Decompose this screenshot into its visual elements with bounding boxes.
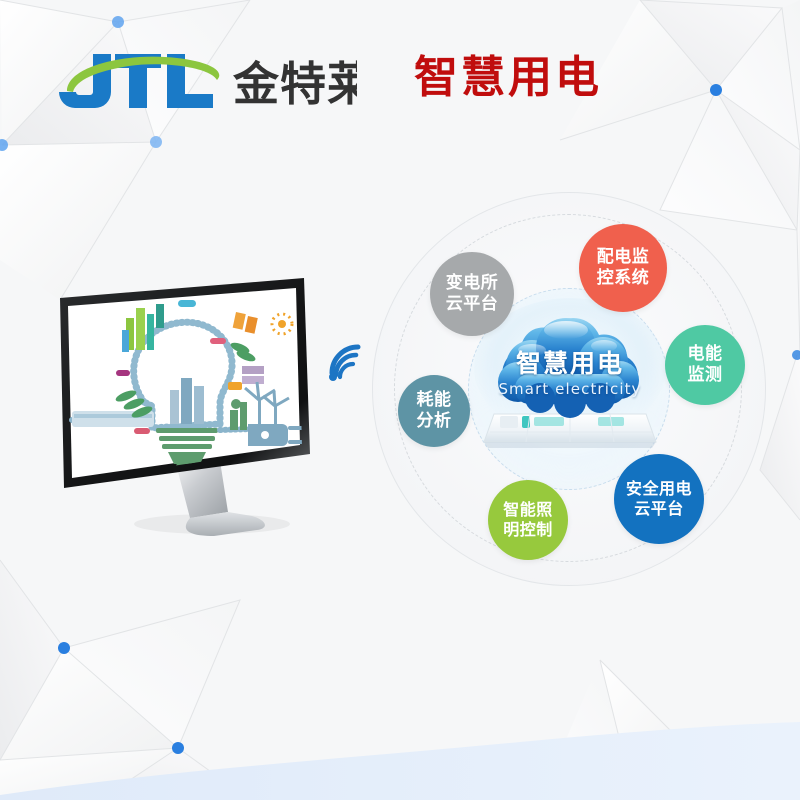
bubble-label-line2: 监测 [688, 365, 723, 386]
bubble-label: 耗能分析 [413, 390, 456, 431]
bubble-label-line1: 智能照 [503, 500, 553, 520]
bubble-energy-consumption-analysis[interactable]: 耗能分析 [398, 375, 470, 447]
bubble-label-line1: 耗能 [417, 390, 452, 411]
bubble-intelligent-lighting-control[interactable]: 智能照明控制 [488, 480, 568, 560]
bubble-label-line2: 控系统 [597, 268, 650, 289]
bubble-label-line1: 电能 [688, 344, 723, 365]
bubble-label: 安全用电云平台 [622, 479, 696, 518]
bubble-label-line1: 安全用电 [626, 479, 692, 499]
brand-company-name: 金特莱 [232, 57, 357, 111]
tablet-device [484, 414, 656, 448]
bubble-label: 配电监控系统 [593, 247, 654, 288]
bubble-power-consumption-monitoring[interactable]: 电能监测 [665, 325, 745, 405]
bubble-label-line2: 明控制 [503, 520, 553, 540]
bubble-power-distribution-monitoring[interactable]: 配电监控系统 [579, 224, 667, 312]
bubble-label: 智能照明控制 [499, 500, 557, 539]
brand-logo[interactable]: 金特莱 [57, 44, 357, 116]
bubble-label-line2: 云平台 [626, 499, 692, 519]
wifi-signal-icon [318, 333, 370, 385]
header: 金特莱 智慧用电 [0, 0, 800, 150]
smart-electricity-ecosystem: 智慧用电 Smart electricity 变电所云平台配电监控系统电能监测耗… [372, 192, 768, 588]
bubble-label-line1: 变电所 [446, 273, 499, 294]
poster-canvas: 金特莱 智慧用电 [0, 0, 800, 800]
bubble-label: 变电所云平台 [442, 273, 503, 314]
bubble-label-line1: 配电监 [597, 247, 650, 268]
desktop-monitor [52, 278, 352, 568]
bubble-substation-cloud-platform[interactable]: 变电所云平台 [430, 252, 514, 336]
bubble-label: 电能监测 [684, 344, 727, 385]
bubble-safe-electricity-cloud-platform[interactable]: 安全用电云平台 [614, 454, 704, 544]
bubble-label-line2: 云平台 [446, 294, 499, 315]
bubble-label-line2: 分析 [417, 411, 452, 432]
page-title: 智慧用电 [414, 48, 602, 108]
